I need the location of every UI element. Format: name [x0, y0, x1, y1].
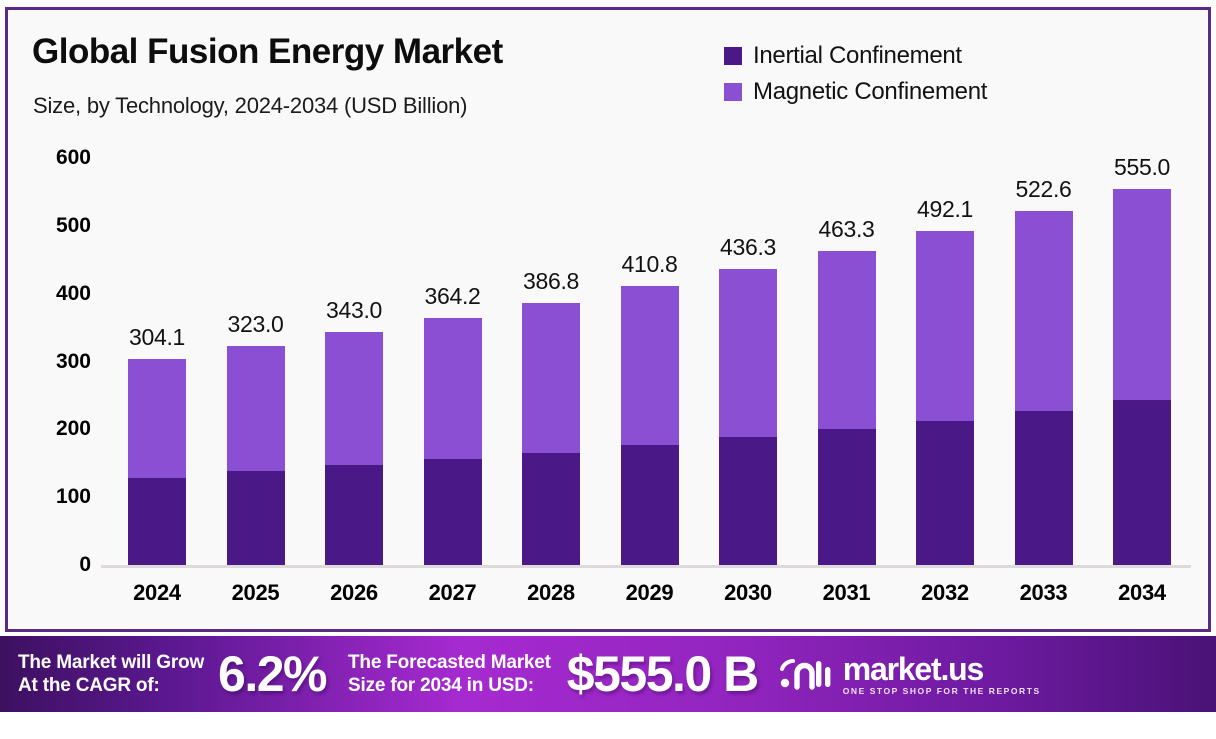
x-axis-category-label: 2033: [1020, 580, 1068, 606]
bar-group[interactable]: 463.32031: [818, 251, 876, 565]
forecast-value: $555.0 B: [567, 645, 758, 703]
bar-segment-magnetic-confinement[interactable]: [325, 332, 383, 465]
x-axis-category-label: 2030: [724, 580, 772, 606]
bar-total-label: 304.1: [129, 324, 185, 351]
bar-segment-magnetic-confinement[interactable]: [916, 231, 974, 420]
bar-total-label: 323.0: [227, 311, 283, 338]
bar-series-container: 304.12024323.02025343.02026364.22027386.…: [101, 10, 1191, 629]
market-us-logo-text: market.us ONE STOP SHOP FOR THE REPORTS: [843, 653, 1041, 696]
bar-segment-inertial-confinement[interactable]: [325, 465, 383, 565]
x-axis-category-label: 2034: [1118, 580, 1166, 606]
cagr-caption-line1: The Market will Grow: [18, 651, 204, 674]
x-axis-category-label: 2029: [626, 580, 674, 606]
bar-segment-inertial-confinement[interactable]: [621, 445, 679, 565]
bar-segment-inertial-confinement[interactable]: [424, 459, 482, 565]
bar-total-label: 343.0: [326, 297, 382, 324]
x-axis-category-label: 2024: [133, 580, 181, 606]
bar-segment-inertial-confinement[interactable]: [128, 478, 186, 566]
forecast-caption-line1: The Forecasted Market: [348, 651, 551, 674]
bar-segment-inertial-confinement[interactable]: [1015, 411, 1073, 565]
bar-group[interactable]: 386.82028: [522, 303, 580, 565]
infographic-root: Global Fusion Energy Market Size, by Tec…: [0, 0, 1216, 739]
bar-group[interactable]: 323.02025: [227, 346, 285, 565]
forecast-caption: The Forecasted Market Size for 2034 in U…: [348, 651, 551, 697]
bar-total-label: 555.0: [1114, 154, 1170, 181]
x-axis-category-label: 2027: [429, 580, 477, 606]
bar-total-label: 522.6: [1015, 176, 1071, 203]
bar-group[interactable]: 410.82029: [621, 286, 679, 565]
bar-total-label: 492.1: [917, 196, 973, 223]
x-axis-category-label: 2025: [232, 580, 280, 606]
bottom-banner: The Market will Grow At the CAGR of: 6.2…: [0, 636, 1216, 712]
y-axis-tick-label: 300: [21, 350, 91, 374]
bar-segment-magnetic-confinement[interactable]: [424, 318, 482, 459]
y-axis-tick-label: 200: [21, 417, 91, 441]
cagr-caption: The Market will Grow At the CAGR of:: [18, 651, 204, 697]
y-axis-tick-label: 500: [21, 214, 91, 238]
bar-total-label: 386.8: [523, 268, 579, 295]
bar-segment-magnetic-confinement[interactable]: [818, 251, 876, 429]
bar-group[interactable]: 304.12024: [128, 359, 186, 565]
bar-total-label: 410.8: [621, 251, 677, 278]
bar-group[interactable]: 436.32030: [719, 269, 777, 565]
y-axis-tick-label: 600: [21, 146, 91, 170]
forecast-caption-line2: Size for 2034 in USD:: [348, 674, 551, 697]
bar-segment-magnetic-confinement[interactable]: [1113, 189, 1171, 401]
x-axis-category-label: 2028: [527, 580, 575, 606]
y-axis-tick-label: 400: [21, 282, 91, 306]
bar-group[interactable]: 522.62033: [1015, 211, 1073, 565]
market-us-logo[interactable]: market.us ONE STOP SHOP FOR THE REPORTS: [780, 653, 1041, 696]
y-axis-tick-label: 0: [21, 553, 91, 577]
bar-segment-inertial-confinement[interactable]: [719, 437, 777, 565]
bar-total-label: 364.2: [424, 283, 480, 310]
bar-segment-inertial-confinement[interactable]: [227, 471, 285, 565]
x-axis-category-label: 2026: [330, 580, 378, 606]
bar-segment-inertial-confinement[interactable]: [916, 421, 974, 565]
bar-group[interactable]: 364.22027: [424, 318, 482, 565]
bar-segment-magnetic-confinement[interactable]: [621, 286, 679, 445]
bar-group[interactable]: 555.02034: [1113, 189, 1171, 565]
chart-card: Global Fusion Energy Market Size, by Tec…: [5, 7, 1211, 632]
bar-segment-magnetic-confinement[interactable]: [719, 269, 777, 437]
bar-segment-magnetic-confinement[interactable]: [522, 303, 580, 453]
bar-total-label: 463.3: [818, 216, 874, 243]
x-axis-category-label: 2032: [921, 580, 969, 606]
cagr-block: The Market will Grow At the CAGR of: 6.2…: [18, 645, 326, 703]
y-axis-tick-label: 100: [21, 485, 91, 509]
cagr-caption-line2: At the CAGR of:: [18, 674, 204, 697]
bar-segment-inertial-confinement[interactable]: [818, 429, 876, 565]
plot-area: 0100200300400500600 304.12024323.0202534…: [8, 10, 1211, 629]
cagr-value: 6.2%: [218, 645, 326, 703]
forecast-block: The Forecasted Market Size for 2034 in U…: [348, 645, 758, 703]
market-us-logo-icon: [780, 653, 834, 696]
bar-total-label: 436.3: [720, 234, 776, 261]
y-axis: 0100200300400500600: [21, 10, 91, 629]
bar-segment-magnetic-confinement[interactable]: [1015, 211, 1073, 412]
bar-segment-magnetic-confinement[interactable]: [227, 346, 285, 471]
bar-segment-inertial-confinement[interactable]: [1113, 400, 1171, 565]
logo-tagline: ONE STOP SHOP FOR THE REPORTS: [843, 687, 1041, 696]
bar-segment-inertial-confinement[interactable]: [522, 453, 580, 565]
bar-group[interactable]: 343.02026: [325, 332, 383, 565]
x-axis-category-label: 2031: [823, 580, 871, 606]
bar-segment-magnetic-confinement[interactable]: [128, 359, 186, 478]
logo-wordmark: market.us: [843, 651, 983, 687]
bar-group[interactable]: 492.12032: [916, 231, 974, 565]
